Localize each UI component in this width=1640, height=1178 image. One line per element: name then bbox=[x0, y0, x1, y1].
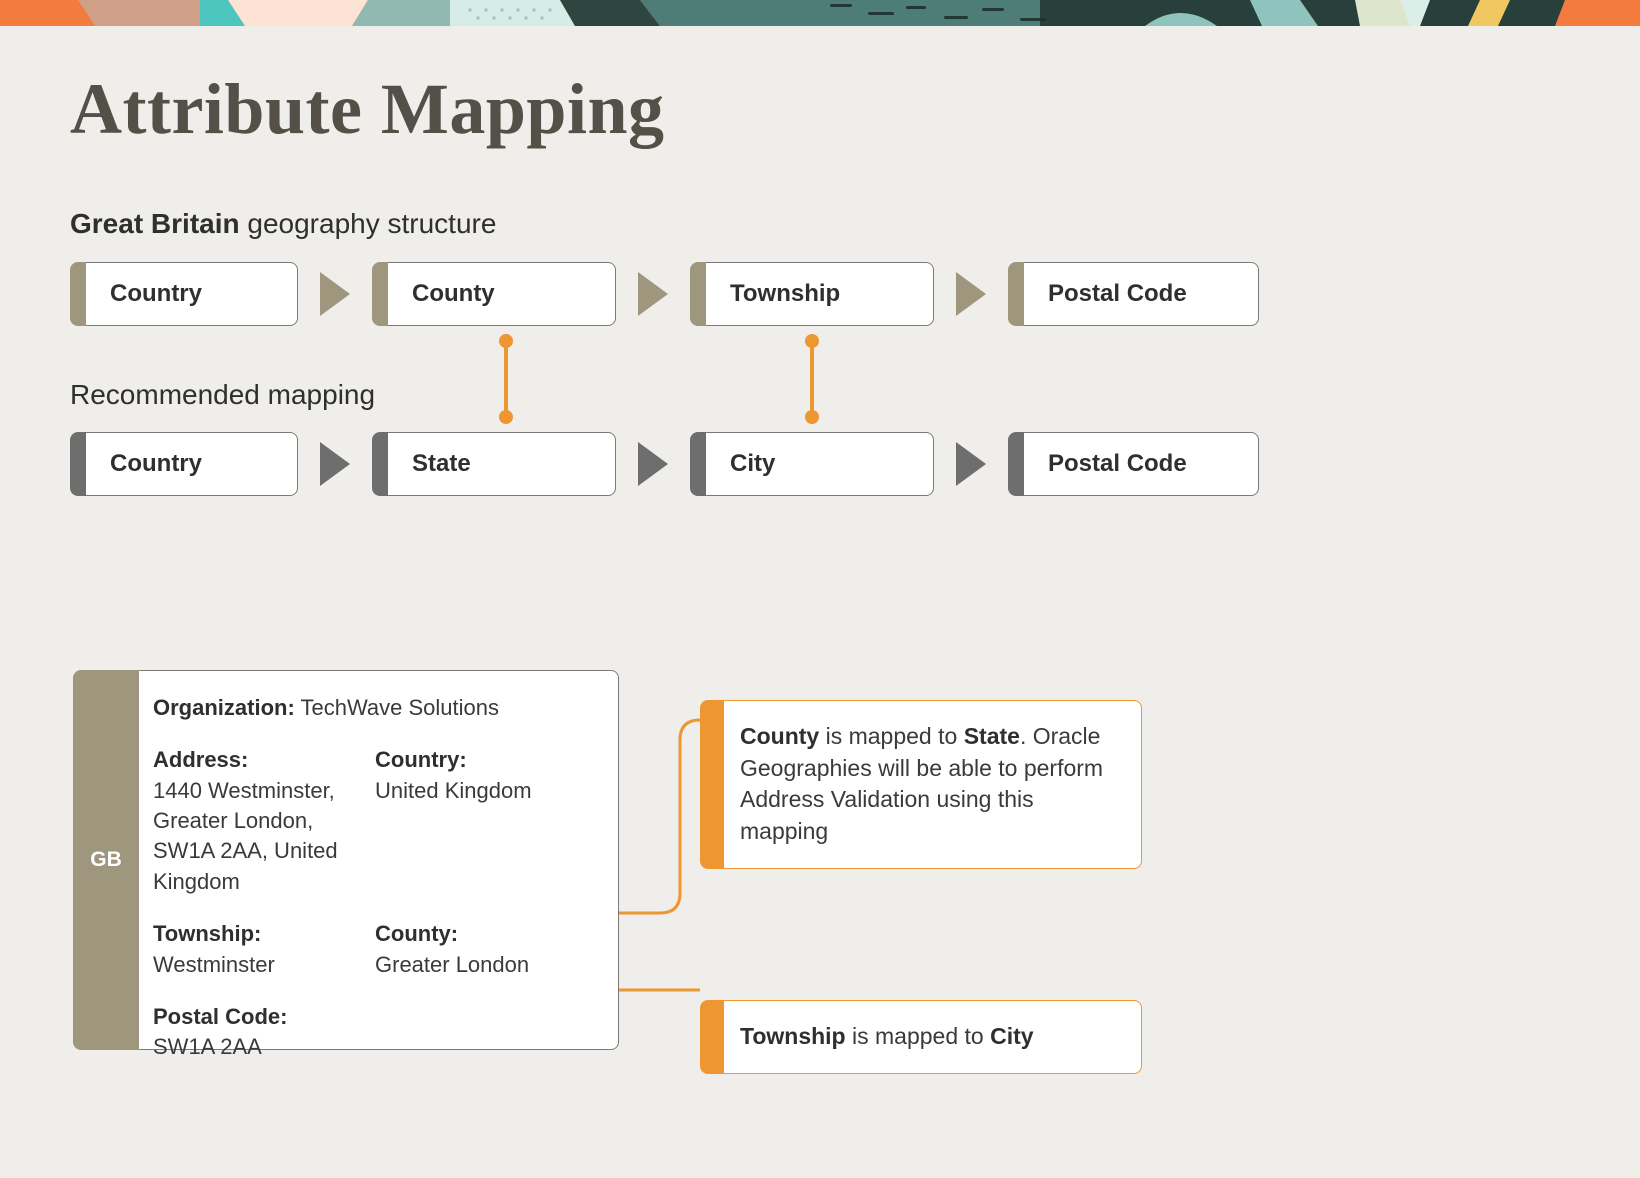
postal-code-field: Postal Code: SW1A 2AA bbox=[153, 1002, 600, 1063]
page-title: Attribute Mapping bbox=[70, 73, 665, 145]
country-code-tab: GB bbox=[73, 670, 139, 1050]
recommended-mapping-label: Recommended mapping bbox=[70, 379, 375, 411]
node-body: Country bbox=[86, 262, 298, 326]
flow-arrow-icon bbox=[638, 442, 668, 486]
flow-node-country-structure[interactable]: Country bbox=[70, 262, 298, 326]
county-label: County: bbox=[375, 919, 600, 949]
callout-mid-text: is mapped to bbox=[846, 1023, 990, 1049]
callout-township-mapping: Township is mapped to City bbox=[700, 1000, 1142, 1074]
flow-node-postal-code-structure[interactable]: Postal Code bbox=[1008, 262, 1259, 326]
node-body: Country bbox=[86, 432, 298, 496]
callout-target-term: City bbox=[990, 1023, 1033, 1049]
decorative-banner bbox=[0, 0, 1640, 26]
township-label: Township: bbox=[153, 919, 375, 949]
country-label: Country: bbox=[375, 745, 600, 775]
callout-lead-term: Township bbox=[740, 1023, 846, 1049]
structure-label-bold: Great Britain bbox=[70, 208, 240, 239]
node-label: County bbox=[412, 280, 495, 308]
flow-node-postal-code-mapping[interactable]: Postal Code bbox=[1008, 432, 1259, 496]
flow-arrow-icon bbox=[956, 272, 986, 316]
connector-county-to-state bbox=[504, 341, 508, 417]
node-body: Township bbox=[706, 262, 934, 326]
township-county-columns: Township: Westminster County: Greater Lo… bbox=[153, 919, 600, 1002]
country-code-label: GB bbox=[90, 848, 122, 872]
address-field: Address: 1440 Westminster, Greater Londo… bbox=[153, 745, 375, 897]
callout-lead-term: County bbox=[740, 723, 819, 749]
flow-node-township[interactable]: Township bbox=[690, 262, 934, 326]
address-value: 1440 Westminster, Greater London, SW1A 2… bbox=[153, 776, 375, 897]
county-value: Greater London bbox=[375, 950, 600, 980]
flow-node-city[interactable]: City bbox=[690, 432, 934, 496]
address-card-body: Organization: TechWave Solutions Address… bbox=[139, 670, 619, 1050]
postal-code-value: SW1A 2AA bbox=[153, 1032, 600, 1062]
node-body: Postal Code bbox=[1024, 432, 1259, 496]
geography-structure-flow: Country County Township Postal Code bbox=[70, 262, 1259, 326]
flow-node-state[interactable]: State bbox=[372, 432, 616, 496]
flow-node-county[interactable]: County bbox=[372, 262, 616, 326]
address-country-columns: Address: 1440 Westminster, Greater Londo… bbox=[153, 745, 600, 919]
node-body: County bbox=[388, 262, 616, 326]
callout-body: Township is mapped to City bbox=[724, 1000, 1142, 1074]
township-value: Westminster bbox=[153, 950, 375, 980]
flow-arrow-icon bbox=[638, 272, 668, 316]
callout-body: County is mapped to State. Oracle Geogra… bbox=[724, 700, 1142, 869]
node-label: State bbox=[412, 450, 471, 478]
country-value: United Kingdom bbox=[375, 776, 600, 806]
callout-target-term: State bbox=[964, 723, 1020, 749]
callout-tab bbox=[700, 700, 724, 869]
connector-township-to-city bbox=[810, 341, 814, 417]
organization-row: Organization: TechWave Solutions bbox=[153, 693, 600, 723]
node-label: Postal Code bbox=[1048, 450, 1187, 478]
node-body: Postal Code bbox=[1024, 262, 1259, 326]
callout-tab bbox=[700, 1000, 724, 1074]
organization-value: TechWave Solutions bbox=[301, 695, 500, 720]
county-field: County: Greater London bbox=[375, 919, 600, 1002]
node-body: City bbox=[706, 432, 934, 496]
flow-arrow-icon bbox=[320, 442, 350, 486]
address-card: GB Organization: TechWave Solutions Addr… bbox=[73, 670, 619, 1050]
node-label: Country bbox=[110, 450, 202, 478]
node-label: City bbox=[730, 450, 775, 478]
structure-label-rest: geography structure bbox=[240, 208, 497, 239]
country-field: Country: United Kingdom bbox=[375, 745, 600, 919]
callout-mid-text: is mapped to bbox=[819, 723, 963, 749]
flow-arrow-icon bbox=[320, 272, 350, 316]
structure-section-label: Great Britain geography structure bbox=[70, 208, 496, 240]
flow-node-country-mapping[interactable]: Country bbox=[70, 432, 298, 496]
organization-label: Organization: bbox=[153, 695, 295, 720]
recommended-mapping-flow: Country State City Postal Code bbox=[70, 432, 1259, 496]
node-label: Country bbox=[110, 280, 202, 308]
node-label: Postal Code bbox=[1048, 280, 1187, 308]
township-field: Township: Westminster bbox=[153, 919, 375, 980]
node-label: Township bbox=[730, 280, 840, 308]
node-body: State bbox=[388, 432, 616, 496]
postal-code-label: Postal Code: bbox=[153, 1002, 600, 1032]
flow-arrow-icon bbox=[956, 442, 986, 486]
callout-county-mapping: County is mapped to State. Oracle Geogra… bbox=[700, 700, 1142, 869]
address-label: Address: bbox=[153, 745, 375, 775]
